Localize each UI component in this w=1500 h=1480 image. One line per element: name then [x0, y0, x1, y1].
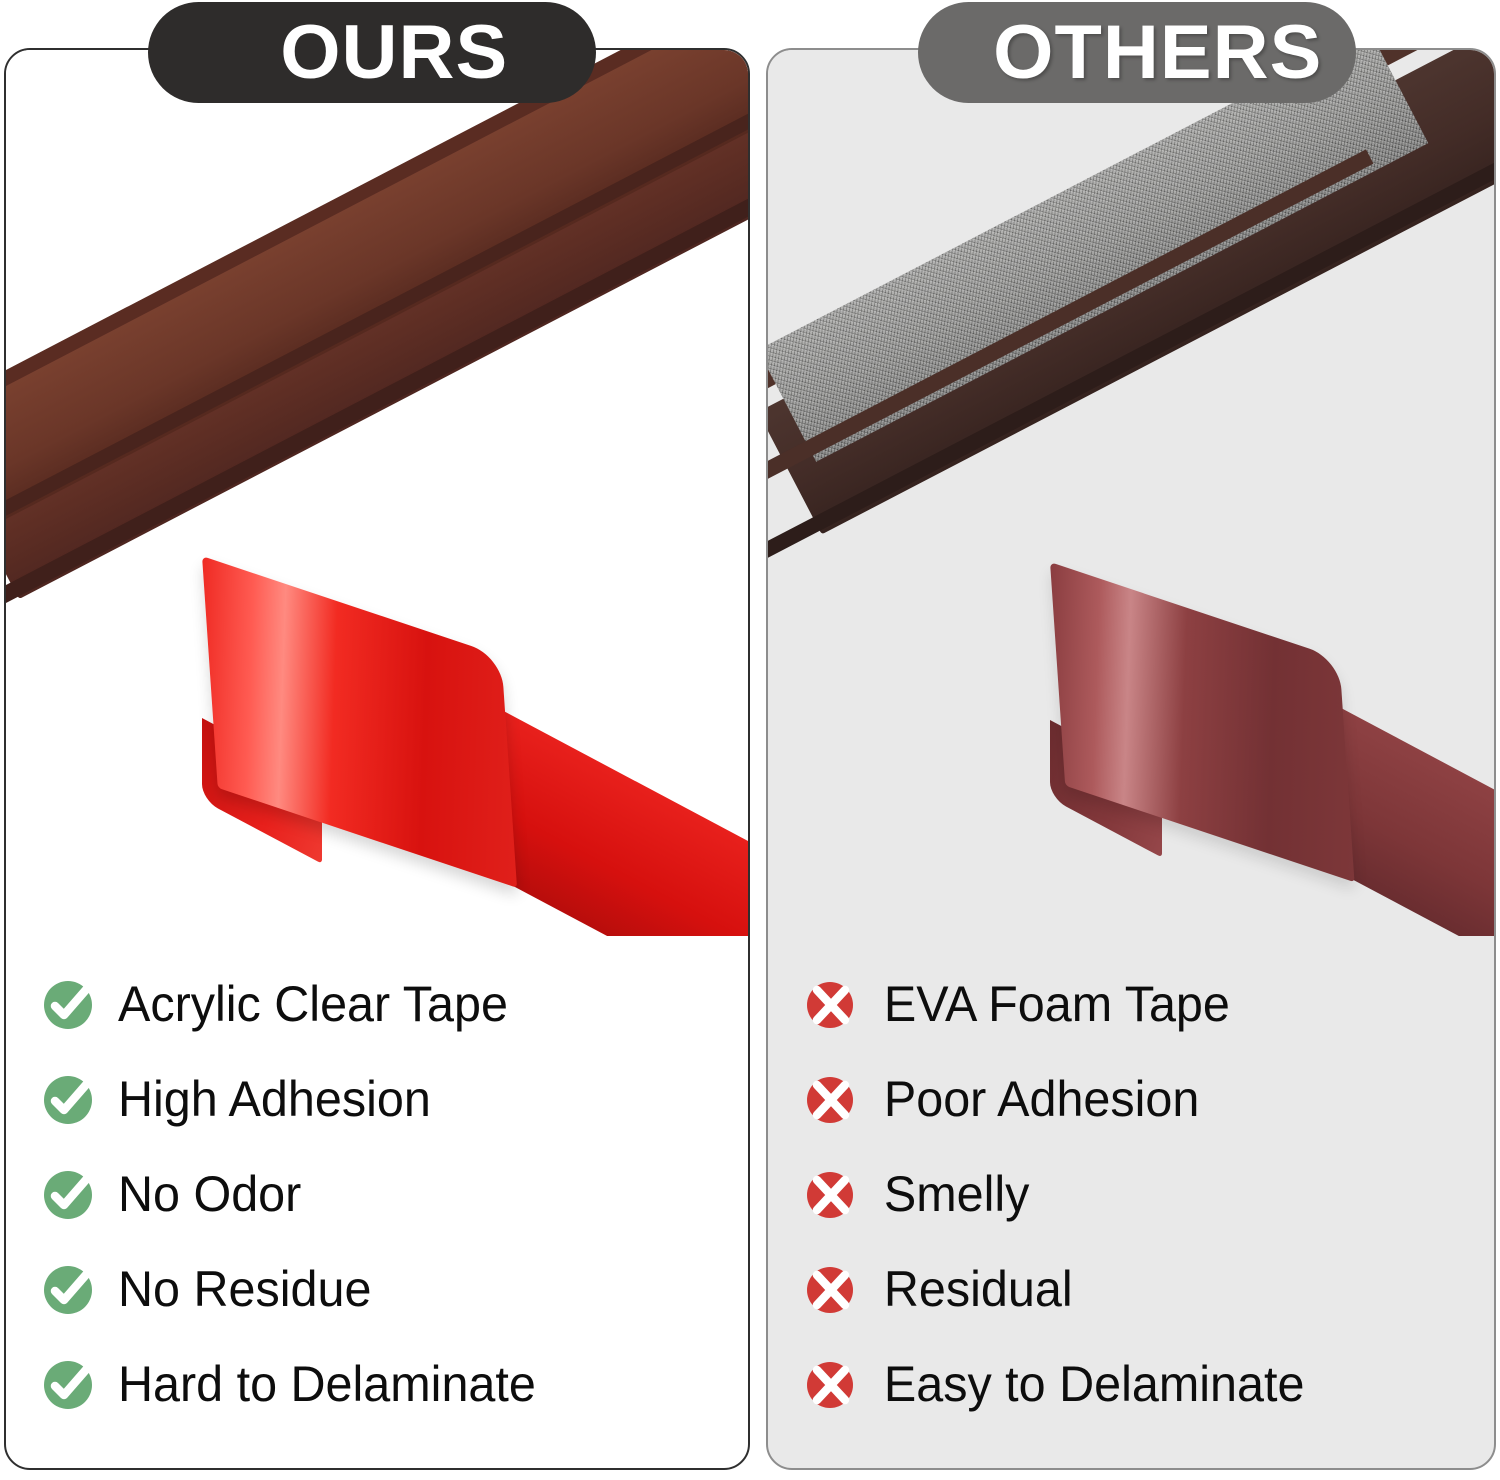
- others-maroon-tape-peeled-flap: [1050, 562, 1355, 882]
- list-item: Smelly: [804, 1146, 1494, 1241]
- list-item-label: No Residue: [118, 1264, 371, 1314]
- list-item-label: High Adhesion: [118, 1074, 431, 1124]
- ours-panel: Acrylic Clear Tape High Adhesion No Odor…: [4, 48, 750, 1470]
- list-item-label: Easy to Delaminate: [880, 1359, 1304, 1409]
- list-item: EVA Foam Tape: [804, 956, 1494, 1051]
- list-item-label: Hard to Delaminate: [118, 1359, 536, 1409]
- list-item: Acrylic Clear Tape: [42, 956, 748, 1051]
- ours-badge: OURS: [148, 2, 596, 103]
- ours-badge-label: OURS: [236, 15, 509, 91]
- x-circle-icon: [804, 1167, 858, 1221]
- list-item: Poor Adhesion: [804, 1051, 1494, 1146]
- list-item: No Odor: [42, 1146, 748, 1241]
- list-item-label: No Odor: [118, 1169, 301, 1219]
- check-circle-icon: [42, 1167, 96, 1221]
- list-item: Residual: [804, 1241, 1494, 1336]
- list-item: Easy to Delaminate: [804, 1336, 1494, 1431]
- check-circle-icon: [42, 1357, 96, 1411]
- others-feature-list: EVA Foam Tape Poor Adhesion Smelly Resid…: [768, 956, 1494, 1431]
- check-circle-icon: [42, 1262, 96, 1316]
- list-item-label: Poor Adhesion: [880, 1074, 1199, 1124]
- comparison-infographic: Acrylic Clear Tape High Adhesion No Odor…: [0, 0, 1500, 1480]
- check-circle-icon: [42, 1072, 96, 1126]
- x-circle-icon: [804, 1262, 858, 1316]
- ours-product-photo: [6, 50, 748, 936]
- list-item-label: Residual: [880, 1264, 1073, 1314]
- others-badge-label: OTHERS: [952, 15, 1322, 91]
- list-item: No Residue: [42, 1241, 748, 1336]
- x-circle-icon: [804, 1357, 858, 1411]
- list-item-label: Acrylic Clear Tape: [118, 979, 508, 1029]
- ours-feature-list: Acrylic Clear Tape High Adhesion No Odor…: [6, 956, 748, 1431]
- x-circle-icon: [804, 1072, 858, 1126]
- list-item-label: EVA Foam Tape: [880, 979, 1230, 1029]
- list-item: Hard to Delaminate: [42, 1336, 748, 1431]
- others-panel: EVA Foam Tape Poor Adhesion Smelly Resid…: [766, 48, 1496, 1470]
- list-item: High Adhesion: [42, 1051, 748, 1146]
- others-badge: OTHERS: [918, 2, 1356, 103]
- check-circle-icon: [42, 977, 96, 1031]
- ours-red-tape-peeled-flap: [202, 556, 517, 888]
- list-item-label: Smelly: [880, 1169, 1029, 1219]
- x-circle-icon: [804, 977, 858, 1031]
- others-product-photo: [768, 50, 1494, 936]
